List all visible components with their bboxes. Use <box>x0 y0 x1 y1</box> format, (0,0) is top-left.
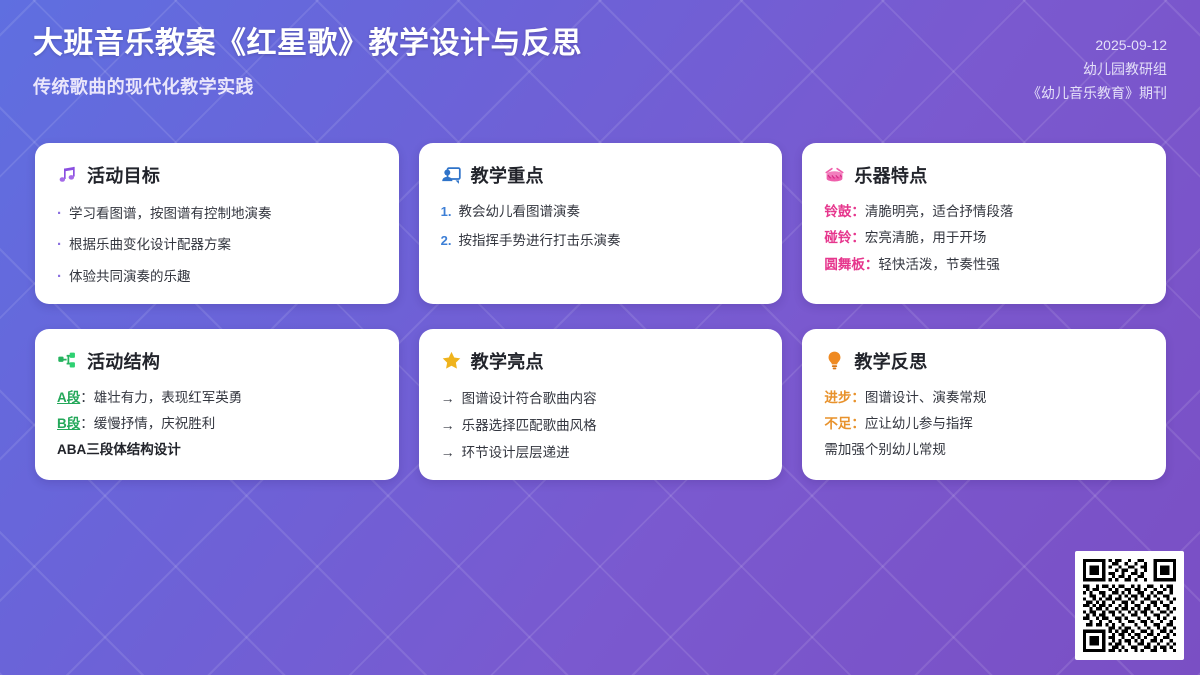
number-marker: 2. <box>441 231 452 251</box>
section-label: B段 <box>57 416 80 431</box>
structure-row: ABA三段体结构设计 <box>57 440 377 460</box>
presentation-icon <box>441 165 462 186</box>
list-item-text: 环节设计层层递进 <box>462 443 570 464</box>
section-desc: 三段体结构设计 <box>86 442 181 457</box>
card-header: 活动结构 <box>57 348 377 374</box>
arrow-marker: → <box>441 442 455 464</box>
card-activity-structure: 活动结构 A段：雄壮有力，表现红军英勇 B段：缓慢抒情，庆祝胜利 ABA三段体结… <box>35 329 399 480</box>
list-item-text: 乐器选择匹配歌曲风格 <box>462 416 597 437</box>
instrument-name: 碰铃： <box>824 230 865 245</box>
list-item: · 根据乐曲变化设计配器方案 <box>57 233 377 256</box>
star-icon <box>441 350 462 371</box>
arrow-marker: → <box>441 415 455 437</box>
meta-journal: 《幼儿音乐教育》期刊 <box>1027 81 1167 105</box>
reflection-label: 进步： <box>824 390 865 405</box>
structure-row: A段：雄壮有力，表现红军英勇 <box>57 388 377 408</box>
page-header: 大班音乐教案《红星歌》教学设计与反思 传统歌曲的现代化教学实践 2025-09-… <box>0 0 1200 128</box>
section-label: ABA <box>57 442 86 457</box>
meta-org: 幼儿园教研组 <box>1027 57 1167 81</box>
list-item: · 体验共同演奏的乐趣 <box>57 265 377 288</box>
card-instrument-traits: 乐器特点 铃鼓：清脆明亮，适合抒情段落 碰铃：宏亮清脆，用于开场 圆舞板：轻快活… <box>802 143 1166 304</box>
card-title: 乐器特点 <box>854 162 927 188</box>
list-item-text: 教会幼儿看图谱演奏 <box>459 202 581 223</box>
reflection-desc: 应让幼儿参与指挥 <box>865 416 973 431</box>
card-header: 活动目标 <box>57 162 377 188</box>
structure-list: A段：雄壮有力，表现红军英勇 B段：缓慢抒情，庆祝胜利 ABA三段体结构设计 <box>57 388 377 461</box>
meta-date: 2025-09-12 <box>1027 33 1167 57</box>
list-item: → 乐器选择匹配歌曲风格 <box>441 415 761 437</box>
list-item: · 学习看图谱，按图谱有控制地演奏 <box>57 202 377 225</box>
reflection-desc: 图谱设计、演奏常规 <box>865 390 987 405</box>
reflection-list: 进步：图谱设计、演奏常规 不足：应让幼儿参与指挥 需加强个别幼儿常规 <box>824 388 1144 461</box>
bullet-marker: · <box>57 233 62 256</box>
page-subtitle: 传统歌曲的现代化教学实践 <box>33 73 582 99</box>
goal-list: · 学习看图谱，按图谱有控制地演奏 · 根据乐曲变化设计配器方案 · 体验共同演… <box>57 202 377 288</box>
list-item-text: 体验共同演奏的乐趣 <box>69 267 191 288</box>
focus-list: 1. 教会幼儿看图谱演奏 2. 按指挥手势进行打击乐演奏 <box>441 202 761 252</box>
instrument-row: 圆舞板：轻快活泼，节奏性强 <box>824 255 1144 275</box>
card-grid: 活动目标 · 学习看图谱，按图谱有控制地演奏 · 根据乐曲变化设计配器方案 · … <box>35 143 1166 480</box>
list-item-text: 图谱设计符合歌曲内容 <box>462 389 597 410</box>
qr-code[interactable] <box>1075 551 1184 660</box>
list-item: 2. 按指挥手势进行打击乐演奏 <box>441 231 761 252</box>
card-teaching-focus: 教学重点 1. 教会幼儿看图谱演奏 2. 按指挥手势进行打击乐演奏 <box>419 143 783 304</box>
instrument-desc: 宏亮清脆，用于开场 <box>865 230 987 245</box>
instrument-desc: 轻快活泼，节奏性强 <box>878 257 1000 272</box>
card-header: 教学反思 <box>824 348 1144 374</box>
qr-code-image <box>1083 559 1176 652</box>
list-item: → 图谱设计符合歌曲内容 <box>441 388 761 410</box>
card-title: 教学反思 <box>854 348 927 374</box>
bullet-marker: · <box>57 265 62 288</box>
list-item: 1. 教会幼儿看图谱演奏 <box>441 202 761 223</box>
arrow-marker: → <box>441 388 455 410</box>
card-teaching-highlights: 教学亮点 → 图谱设计符合歌曲内容 → 乐器选择匹配歌曲风格 → 环节设计层层递… <box>419 329 783 480</box>
drum-icon <box>824 165 845 186</box>
instrument-desc: 清脆明亮，适合抒情段落 <box>865 204 1014 219</box>
instrument-name: 圆舞板： <box>824 257 878 272</box>
card-header: 教学亮点 <box>441 348 761 374</box>
card-title: 教学重点 <box>471 162 544 188</box>
page-title: 大班音乐教案《红星歌》教学设计与反思 <box>33 26 582 63</box>
card-title: 活动目标 <box>87 162 160 188</box>
instrument-list: 铃鼓：清脆明亮，适合抒情段落 碰铃：宏亮清脆，用于开场 圆舞板：轻快活泼，节奏性… <box>824 202 1144 275</box>
sitemap-icon <box>57 350 78 371</box>
reflection-label: 不足： <box>824 416 865 431</box>
card-header: 教学重点 <box>441 162 761 188</box>
reflection-row: 不足：应让幼儿参与指挥 <box>824 414 1144 434</box>
section-desc: ：缓慢抒情，庆祝胜利 <box>80 416 215 431</box>
reflection-row: 进步：图谱设计、演奏常规 <box>824 388 1144 408</box>
card-teaching-reflection: 教学反思 进步：图谱设计、演奏常规 不足：应让幼儿参与指挥 需加强个别幼儿常规 <box>802 329 1166 480</box>
music-note-icon <box>57 165 78 186</box>
section-label: A段 <box>57 390 80 405</box>
list-item: → 环节设计层层递进 <box>441 442 761 464</box>
highlight-list: → 图谱设计符合歌曲内容 → 乐器选择匹配歌曲风格 → 环节设计层层递进 <box>441 388 761 464</box>
list-item-text: 按指挥手势进行打击乐演奏 <box>459 231 621 252</box>
section-desc: ：雄壮有力，表现红军英勇 <box>80 390 242 405</box>
reflection-desc: 需加强个别幼儿常规 <box>824 442 946 457</box>
header-left: 大班音乐教案《红星歌》教学设计与反思 传统歌曲的现代化教学实践 <box>33 26 582 99</box>
structure-row: B段：缓慢抒情，庆祝胜利 <box>57 414 377 434</box>
list-item-text: 根据乐曲变化设计配器方案 <box>69 235 231 256</box>
header-meta: 2025-09-12 幼儿园教研组 《幼儿音乐教育》期刊 <box>1027 33 1167 105</box>
list-item-text: 学习看图谱，按图谱有控制地演奏 <box>69 204 272 225</box>
card-title: 教学亮点 <box>471 348 544 374</box>
card-title: 活动结构 <box>87 348 160 374</box>
card-activity-goals: 活动目标 · 学习看图谱，按图谱有控制地演奏 · 根据乐曲变化设计配器方案 · … <box>35 143 399 304</box>
lightbulb-icon <box>824 350 845 371</box>
instrument-row: 铃鼓：清脆明亮，适合抒情段落 <box>824 202 1144 222</box>
number-marker: 1. <box>441 202 452 222</box>
card-header: 乐器特点 <box>824 162 1144 188</box>
bullet-marker: · <box>57 202 62 225</box>
reflection-row: 需加强个别幼儿常规 <box>824 440 1144 460</box>
instrument-row: 碰铃：宏亮清脆，用于开场 <box>824 228 1144 248</box>
instrument-name: 铃鼓： <box>824 204 865 219</box>
